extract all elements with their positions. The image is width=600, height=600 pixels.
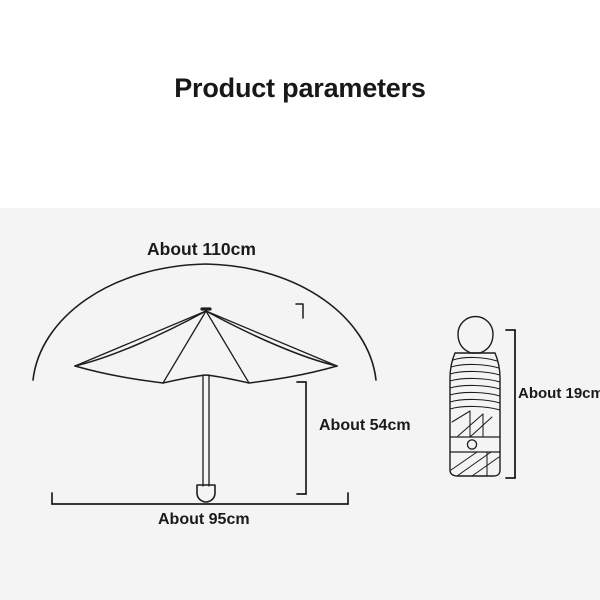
- diagram-panel: About 110cm About 95cm About 54cm About …: [0, 208, 600, 600]
- folded-rib-6: [450, 392, 500, 396]
- folded-rib-2: [451, 364, 499, 368]
- folded-rib-4: [450, 378, 500, 382]
- canopy-bottom-edge: [75, 366, 337, 383]
- label-open-height: About 54cm: [319, 417, 411, 435]
- label-folded-height: About 19cm: [518, 385, 600, 402]
- folded-umbrella-illustration: [450, 317, 500, 477]
- folded-diagonal-lower-3: [472, 457, 499, 476]
- canopy-rib-right-outer: [206, 311, 337, 366]
- folded-diagonal-upper-3: [470, 417, 492, 437]
- canopy-rib-left-outer: [75, 311, 206, 366]
- folded-rib-1: [453, 357, 497, 361]
- bracket-height-54: [297, 382, 306, 494]
- bracket-folded-height-19: [506, 330, 515, 478]
- header-band: Product parameters: [0, 0, 600, 208]
- folded-cap: [458, 317, 493, 354]
- label-canopy-span: About 110cm: [147, 239, 256, 260]
- folded-rib-5: [450, 385, 500, 389]
- label-base-width: About 95cm: [158, 511, 250, 529]
- umbrella-diagram: [0, 208, 600, 600]
- product-parameters-page: Product parameters: [0, 0, 600, 600]
- folded-rib-7: [450, 399, 500, 403]
- folded-diagonal-lower-1: [451, 452, 477, 470]
- page-title: Product parameters: [0, 73, 600, 104]
- folded-rib-3: [450, 371, 500, 375]
- folded-diagonal-upper-1: [452, 411, 470, 422]
- folded-rib-8: [450, 406, 500, 410]
- umbrella-grip: [197, 485, 215, 502]
- folded-diagonal-lower-2: [457, 452, 491, 476]
- canopy-tick-mark: [296, 304, 303, 318]
- folded-snap-button: [467, 440, 476, 449]
- open-umbrella-illustration: [33, 264, 376, 502]
